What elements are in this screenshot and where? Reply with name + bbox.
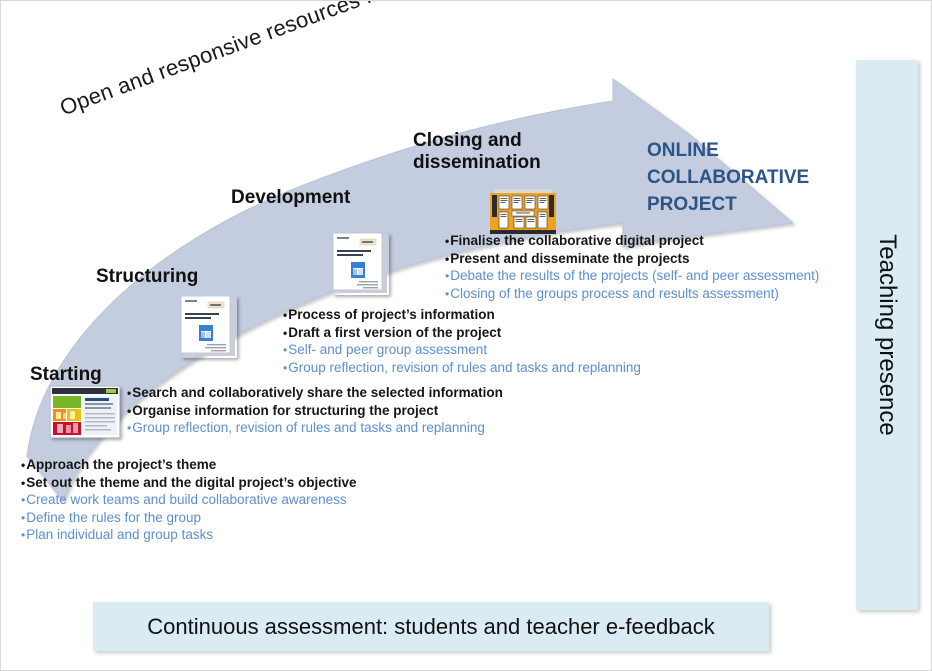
- stage-heading-starting: Starting: [30, 364, 102, 386]
- stage-heading-structuring: Structuring: [96, 266, 198, 288]
- teaching-presence-panel: Teaching presence: [856, 60, 918, 610]
- document-page-thumbnail: [181, 296, 237, 358]
- bullet-item: Set out the theme and the digital projec…: [21, 474, 357, 492]
- bullet-item: Present and disseminate the projects: [445, 250, 819, 268]
- bullet-item: Finalise the collaborative digital proje…: [445, 232, 819, 250]
- bullet-item: Group reflection, revision of rules and …: [283, 359, 641, 377]
- stage-heading-development: Development: [231, 187, 350, 209]
- bullet-item: Group reflection, revision of rules and …: [127, 419, 503, 437]
- continuous-assessment-label: Continuous assessment: students and teac…: [147, 614, 714, 640]
- bullet-item: Process of project’s information: [283, 306, 641, 324]
- continuous-assessment-bar: Continuous assessment: students and teac…: [93, 602, 769, 651]
- document-page-thumbnail: [333, 233, 389, 295]
- bullet-item: Define the rules for the group: [21, 509, 357, 527]
- teaching-presence-label: Teaching presence: [856, 60, 918, 610]
- bullet-item: Debate the results of the projects (self…: [445, 267, 819, 285]
- bullet-list-starting: Approach the project’s theme Set out the…: [21, 456, 357, 544]
- bullet-item: Organise information for structuring the…: [127, 402, 503, 420]
- bullet-item: Self- and peer group assessment: [283, 341, 641, 359]
- bullet-item: Search and collaboratively share the sel…: [127, 384, 503, 402]
- outcome-heading-online-collaborative-project: ONLINE COLLABORATIVE PROJECT: [647, 138, 809, 219]
- bullet-item: Closing of the groups process and result…: [445, 285, 819, 303]
- diagram-banner-title: Open and responsive resources in differe…: [57, 0, 535, 121]
- bullet-list-development: Process of project’s information Draft a…: [283, 306, 641, 376]
- bullet-item: Approach the project’s theme: [21, 456, 357, 474]
- bullet-item: Create work teams and build collaborativ…: [21, 491, 357, 509]
- bullet-list-closing-and-dissemination: Finalise the collaborative digital proje…: [445, 232, 819, 302]
- webpage-screenshot-thumbnail: [50, 386, 120, 438]
- stage-heading-closing-and-dissemination: Closing and dissemination: [413, 130, 541, 175]
- bullet-item: Plan individual and group tasks: [21, 526, 357, 544]
- bullet-list-structuring: Search and collaboratively share the sel…: [127, 384, 503, 437]
- bullet-item: Draft a first version of the project: [283, 324, 641, 342]
- poster-board-thumbnail: [490, 189, 556, 234]
- diagram-canvas: Open and responsive resources in differe…: [0, 0, 932, 671]
